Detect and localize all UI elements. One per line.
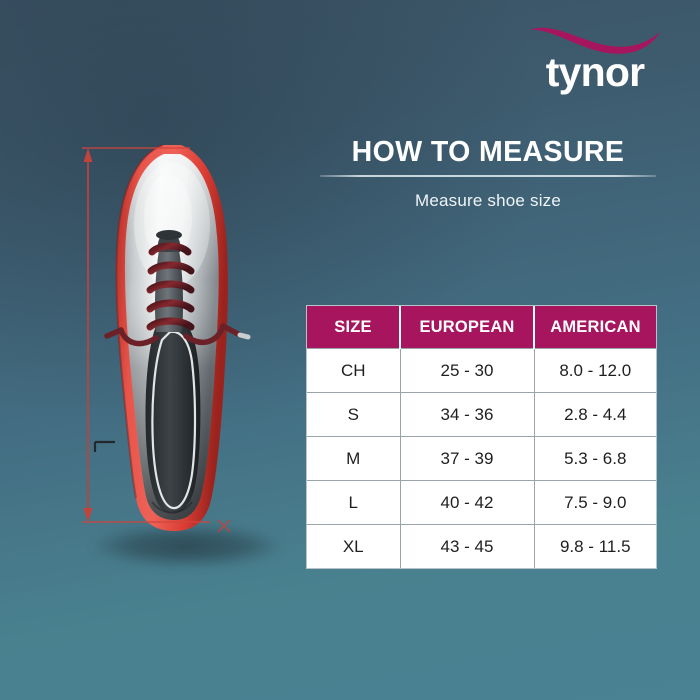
column-header-size: SIZE [307, 306, 400, 349]
size-guide-page: tynor HOW TO MEASURE Measure shoe size [0, 0, 700, 700]
cell-american: 9.8 - 11.5 [534, 525, 656, 569]
table-header-row: SIZE EUROPEAN AMERICAN [307, 306, 656, 349]
cell-american: 7.5 - 9.0 [534, 481, 656, 525]
table-row: M 37 - 39 5.3 - 6.8 [307, 437, 656, 481]
cell-american: 8.0 - 12.0 [534, 349, 656, 393]
shoe-illustration [60, 130, 300, 580]
column-header-american: AMERICAN [534, 306, 656, 349]
cell-european: 34 - 36 [400, 393, 534, 437]
table-row: XL 43 - 45 9.8 - 11.5 [307, 525, 656, 569]
page-title: HOW TO MEASURE [312, 136, 664, 169]
cell-european: 43 - 45 [400, 525, 534, 569]
cell-european: 37 - 39 [400, 437, 534, 481]
page-header: HOW TO MEASURE Measure shoe size [312, 136, 664, 211]
cell-size: S [307, 393, 400, 437]
cell-size: CH [307, 349, 400, 393]
brand-name: tynor [520, 50, 670, 94]
page-subtitle: Measure shoe size [312, 190, 664, 211]
cell-size: L [307, 481, 400, 525]
cell-size: M [307, 437, 400, 481]
table-row: S 34 - 36 2.8 - 4.4 [307, 393, 656, 437]
cell-american: 2.8 - 4.4 [534, 393, 656, 437]
size-table: SIZE EUROPEAN AMERICAN CH 25 - 30 8.0 - … [307, 306, 656, 568]
brand-logo: tynor [520, 24, 670, 98]
shoe-size-chart: SIZE EUROPEAN AMERICAN CH 25 - 30 8.0 - … [307, 306, 656, 568]
column-header-european: EUROPEAN [400, 306, 534, 349]
cell-european: 25 - 30 [400, 349, 534, 393]
table-row: CH 25 - 30 8.0 - 12.0 [307, 349, 656, 393]
title-divider [320, 175, 656, 177]
cell-european: 40 - 42 [400, 481, 534, 525]
cell-american: 5.3 - 6.8 [534, 437, 656, 481]
cell-size: XL [307, 525, 400, 569]
table-row: L 40 - 42 7.5 - 9.0 [307, 481, 656, 525]
